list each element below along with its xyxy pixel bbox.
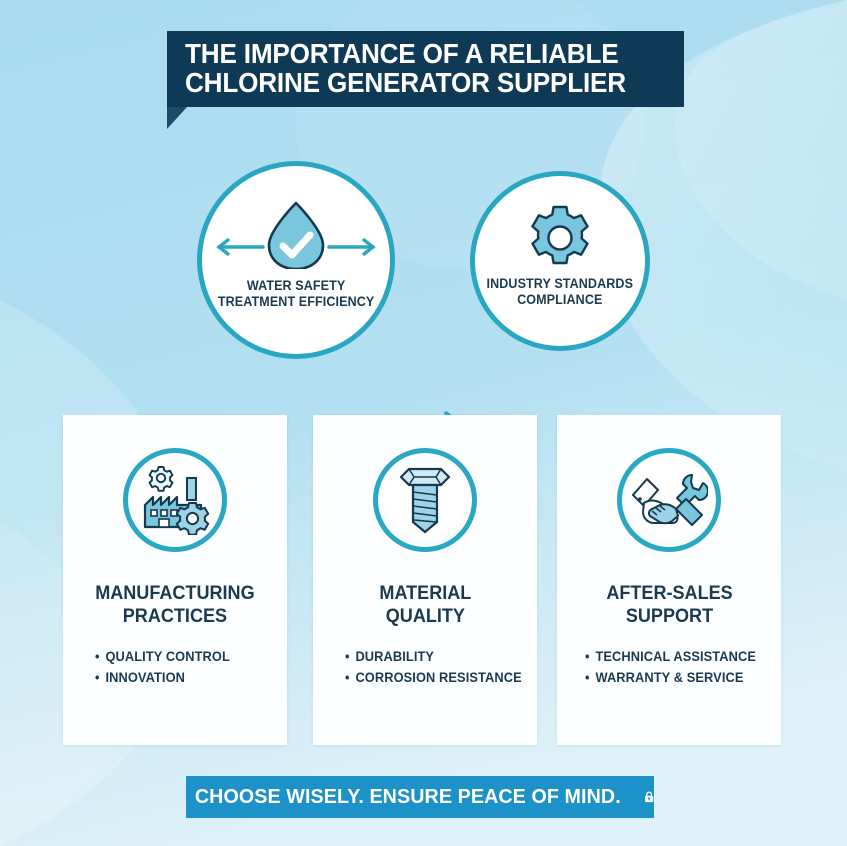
list-item: •INNOVATION xyxy=(95,667,277,688)
feature-cards: MANUFACTURING PRACTICES •QUALITY CONTROL… xyxy=(0,415,847,745)
flow-node-label-2: INDUSTRY STANDARDS COMPLIANCE xyxy=(487,276,634,307)
flow-node-industry-standards[interactable]: INDUSTRY STANDARDS COMPLIANCE xyxy=(470,171,650,351)
list-item: •QUALITY CONTROL xyxy=(95,646,277,667)
title-banner-tail xyxy=(167,107,187,129)
card-manufacturing-practices[interactable]: MANUFACTURING PRACTICES •QUALITY CONTROL… xyxy=(63,415,287,745)
flow-node-label-1: WATER SAFETY TREATMENT EFFICIENCY xyxy=(218,278,374,309)
arrow-left-icon xyxy=(219,240,263,254)
bullet-label: TECHNICAL ASSISTANCE xyxy=(595,649,756,664)
gear-icon-wrap xyxy=(475,176,645,276)
card-title-2-line-1: MATERIAL xyxy=(379,582,471,605)
flow-node-label-2-line-2: COMPLIANCE xyxy=(487,292,634,308)
card-material-quality[interactable]: MATERIAL QUALITY •DURABILITY •CORROSION … xyxy=(313,415,537,745)
bullet-dot: • xyxy=(585,646,595,667)
handshake-wrench-icon xyxy=(630,469,708,531)
list-item: •CORROSION RESISTANCE xyxy=(345,667,527,688)
gear-icon xyxy=(525,203,595,273)
card-title-3-line-1: AFTER-SALES xyxy=(606,582,732,605)
page-title-line-2: CHLORINE GENERATOR SUPPLIER xyxy=(185,68,644,97)
card-title-3-line-2: SUPPORT xyxy=(606,605,732,628)
page-title-line-1: THE IMPORTANCE OF A RELIABLE xyxy=(185,39,644,68)
bullet-dot: • xyxy=(345,646,355,667)
factory-gears-icon-wrap xyxy=(123,448,227,552)
cta-banner[interactable]: CHOOSE WISELY. ENSURE PEACE OF MIND. xyxy=(186,776,654,818)
card-title-1: MANUFACTURING PRACTICES xyxy=(95,582,254,628)
flow-node-water-safety[interactable]: WATER SAFETY TREATMENT EFFICIENCY xyxy=(197,161,395,359)
flow-node-label-2-line-1: INDUSTRY STANDARDS xyxy=(487,276,634,292)
list-item: •WARRANTY & SERVICE xyxy=(585,667,771,688)
arrow-right-icon xyxy=(329,240,373,254)
bullet-label: CORROSION RESISTANCE xyxy=(355,670,521,685)
card-title-1-line-2: PRACTICES xyxy=(95,605,254,628)
bullet-dot: • xyxy=(585,667,595,688)
bullet-label: INNOVATION xyxy=(105,670,185,685)
bullet-dot: • xyxy=(95,667,105,688)
bullet-dot: • xyxy=(345,667,355,688)
card-bullets-3: •TECHNICAL ASSISTANCE •WARRANTY & SERVIC… xyxy=(557,646,781,688)
card-bullets-2: •DURABILITY •CORROSION RESISTANCE xyxy=(313,646,537,688)
page-title-banner: THE IMPORTANCE OF A RELIABLE CHLORINE GE… xyxy=(167,31,684,107)
card-title-2-line-2: QUALITY xyxy=(379,605,471,628)
card-title-3: AFTER-SALES SUPPORT xyxy=(606,582,732,628)
card-after-sales-support[interactable]: AFTER-SALES SUPPORT •TECHNICAL ASSISTANC… xyxy=(557,415,781,745)
card-title-1-line-1: MANUFACTURING xyxy=(95,582,254,605)
water-drop-check-icon xyxy=(211,197,381,269)
factory-gears-icon xyxy=(139,465,211,535)
bullet-label: QUALITY CONTROL xyxy=(105,649,229,664)
bolt-screw-icon-wrap xyxy=(373,448,477,552)
list-item: •DURABILITY xyxy=(345,646,527,667)
water-drop-check-icon-wrap xyxy=(202,166,390,278)
lock-icon xyxy=(644,783,654,811)
flow-diagram: WATER SAFETY TREATMENT EFFICIENCY INDUST… xyxy=(0,160,847,365)
cta-text: CHOOSE WISELY. ENSURE PEACE OF MIND. xyxy=(195,785,621,809)
bullet-label: DURABILITY xyxy=(355,649,434,664)
flow-node-label-1-line-1: WATER SAFETY xyxy=(218,278,374,294)
bullet-dot: • xyxy=(95,646,105,667)
list-item: •TECHNICAL ASSISTANCE xyxy=(585,646,771,667)
handshake-wrench-icon-wrap xyxy=(617,448,721,552)
flow-node-label-1-line-2: TREATMENT EFFICIENCY xyxy=(218,294,374,310)
bolt-screw-icon xyxy=(395,464,455,536)
bullet-label: WARRANTY & SERVICE xyxy=(595,670,743,685)
card-bullets-1: •QUALITY CONTROL •INNOVATION xyxy=(63,646,287,688)
card-title-2: MATERIAL QUALITY xyxy=(379,582,471,628)
